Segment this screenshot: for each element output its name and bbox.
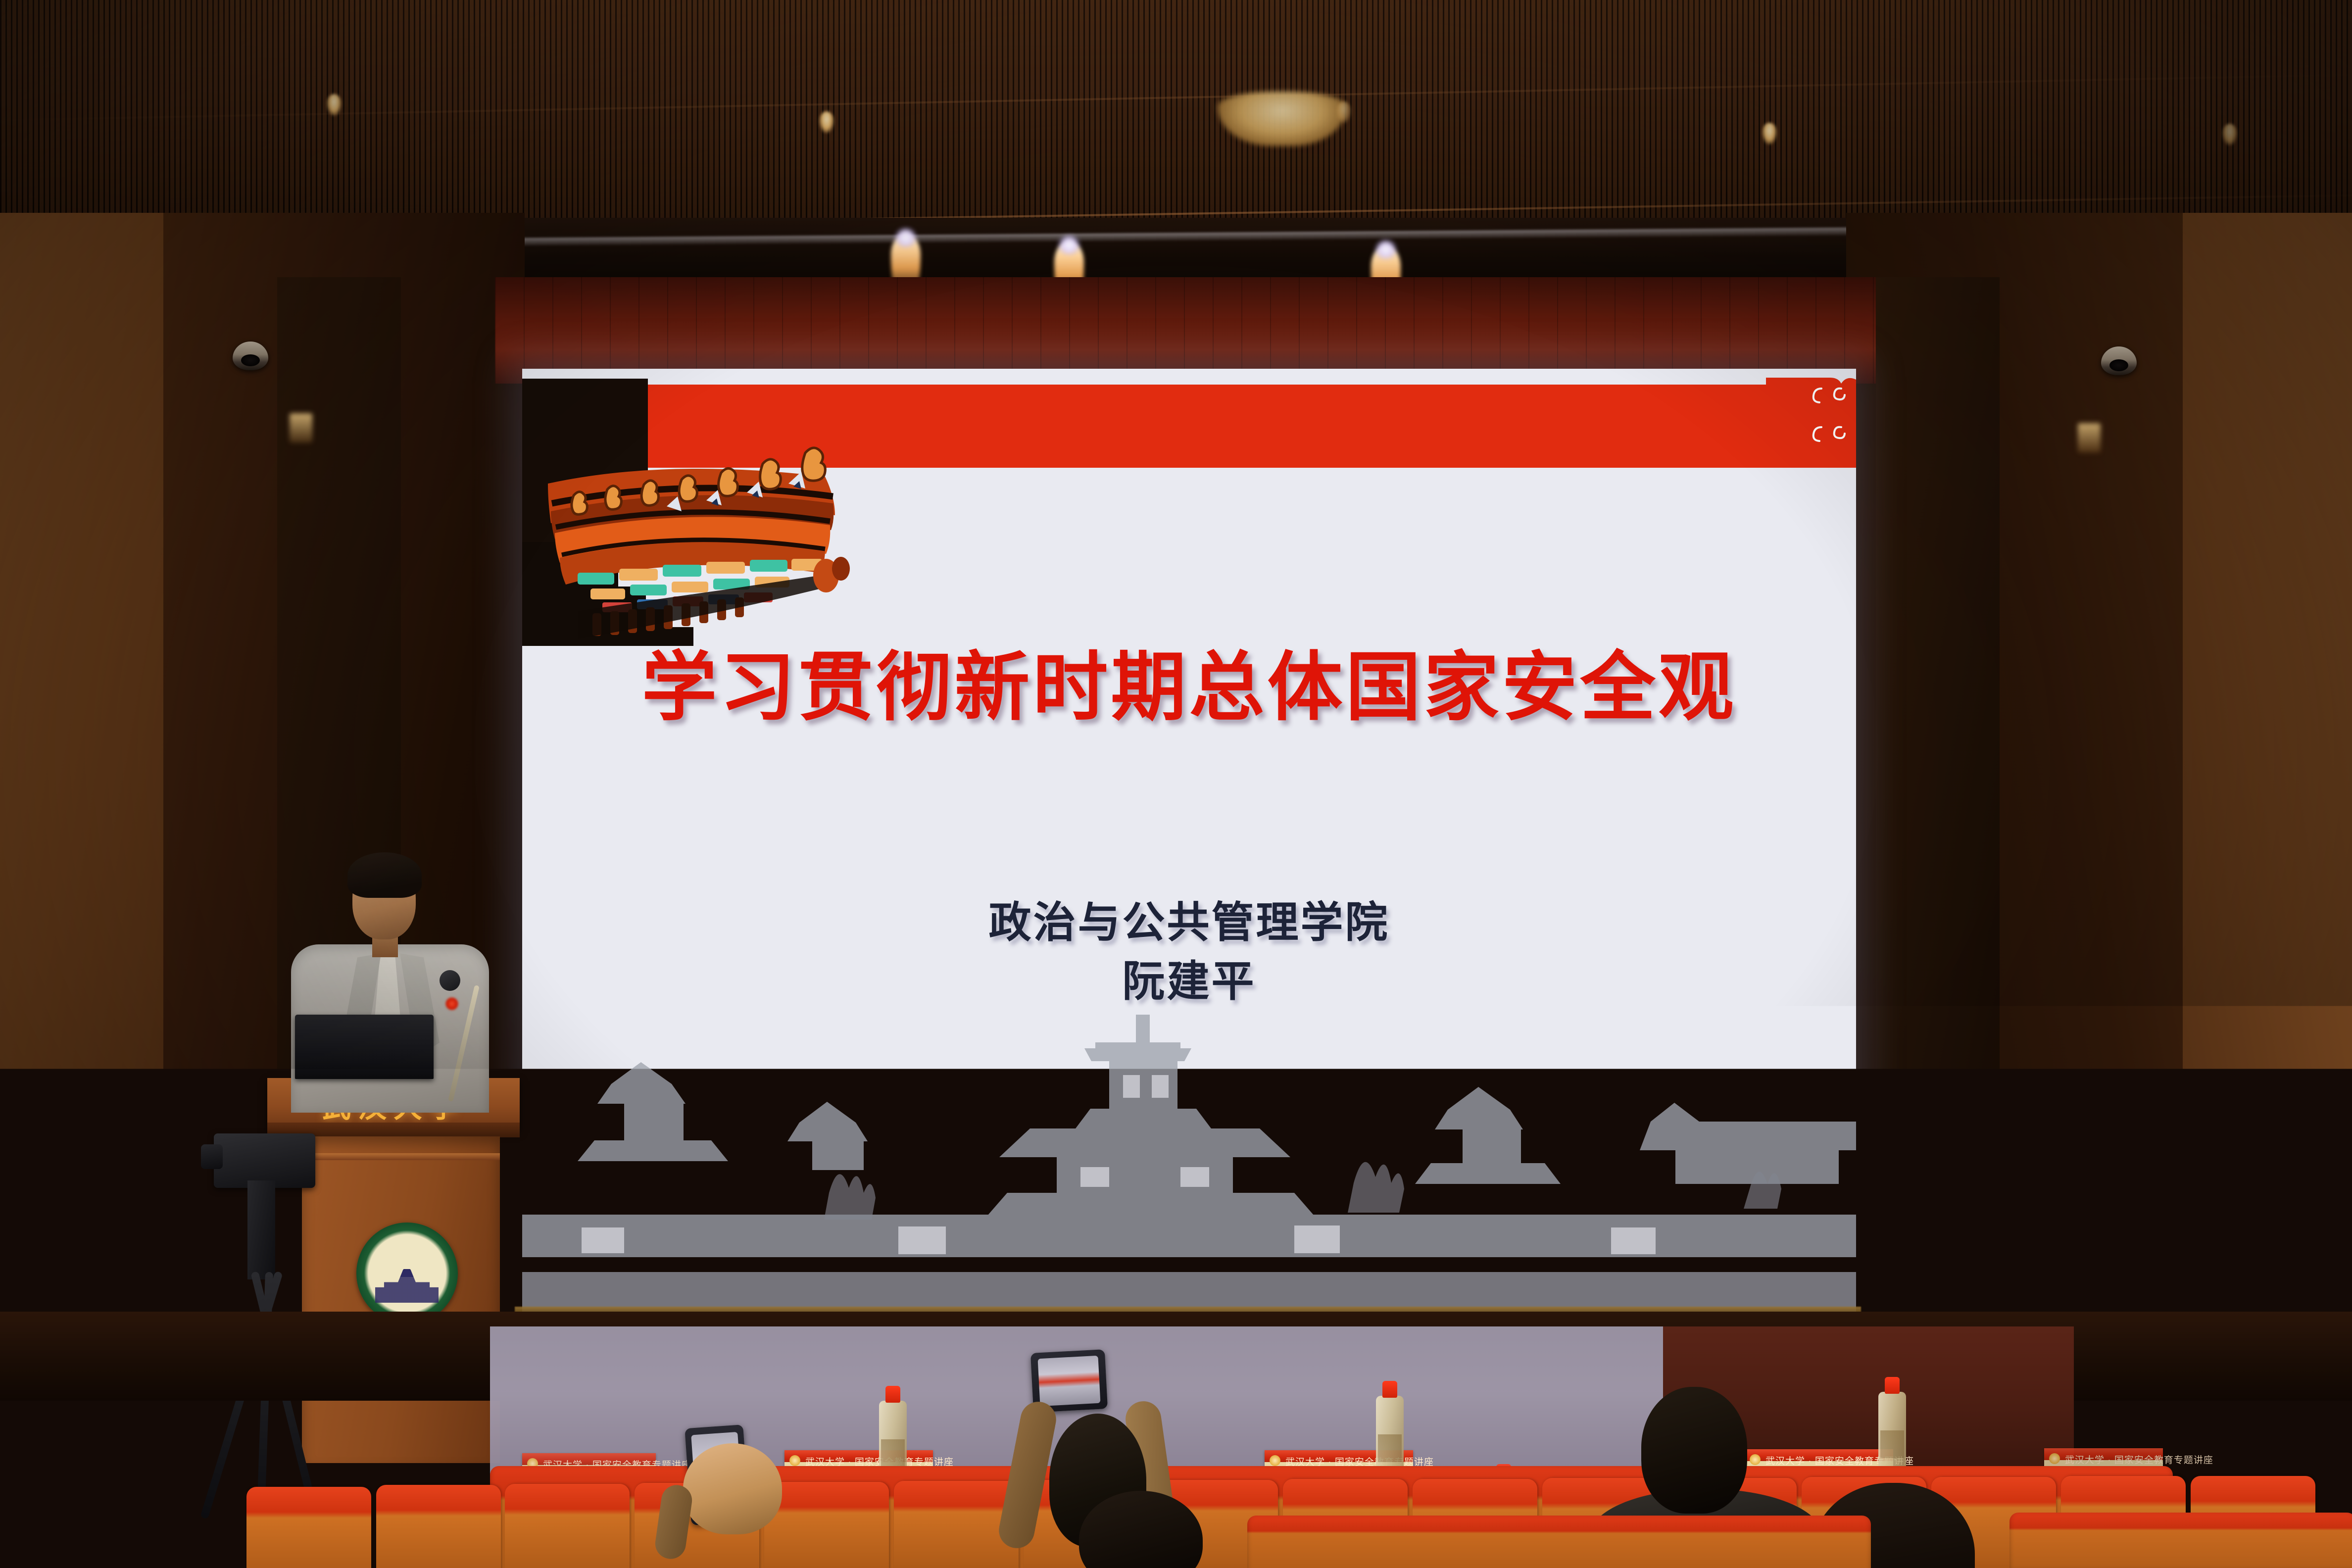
- seat-row-front-far-right: [2009, 1513, 2352, 1568]
- microphone-status-led: [445, 997, 458, 1010]
- dome-security-camera-right: [2101, 346, 2137, 375]
- seat-row-front-left: [213, 1519, 807, 1568]
- wall-accent-light-left: [290, 413, 312, 443]
- wall-accent-light-right: [2078, 423, 2101, 453]
- wuhan-university-emblem-icon: [356, 1223, 458, 1324]
- ceiling-downlight: [819, 111, 834, 133]
- ceiling-downlight: [327, 94, 342, 116]
- stage-curtain-band: [495, 277, 1876, 384]
- projection-screen: 学习贯彻新时期总体国家安全观 政治与公共管理学院 阮建平: [522, 369, 1856, 1312]
- phone-screen: [1038, 1356, 1101, 1406]
- ceiling-downlight: [2222, 124, 2237, 146]
- microphone-capsule-icon: [440, 970, 460, 991]
- forbidden-city-silhouette-icon: [522, 995, 1856, 1312]
- tripod-column: [247, 1180, 275, 1279]
- right-pillar: [1876, 277, 2000, 1406]
- presenter-laptop: [295, 1015, 434, 1079]
- dome-security-camera-left: [233, 342, 268, 370]
- seat-row-front-right: [1247, 1516, 1871, 1568]
- presenter-hair: [347, 852, 422, 898]
- auspicious-cloud-icon: [1766, 378, 1856, 452]
- slide-subtitle-org: 政治与公共管理学院: [522, 893, 1856, 952]
- ceiling-wood-slats: [0, 0, 2352, 233]
- slide-subtitle: 政治与公共管理学院 阮建平: [522, 893, 1856, 1011]
- ceiling-downlight: [1762, 123, 1777, 145]
- lecture-hall-photo: 学习贯彻新时期总体国家安全观 政治与公共管理学院 阮建平: [0, 0, 2352, 1568]
- ceiling-downlight: [1336, 101, 1351, 123]
- video-camera-body: [214, 1133, 315, 1188]
- slide-title: 学习贯彻新时期总体国家安全观: [522, 626, 1856, 735]
- podium-molding: [302, 1153, 500, 1160]
- attendee-dark-suit-head: [1641, 1387, 1747, 1514]
- seat-placard-text: 武汉大学 · 国家安全教育专题讲座: [2065, 1453, 2213, 1466]
